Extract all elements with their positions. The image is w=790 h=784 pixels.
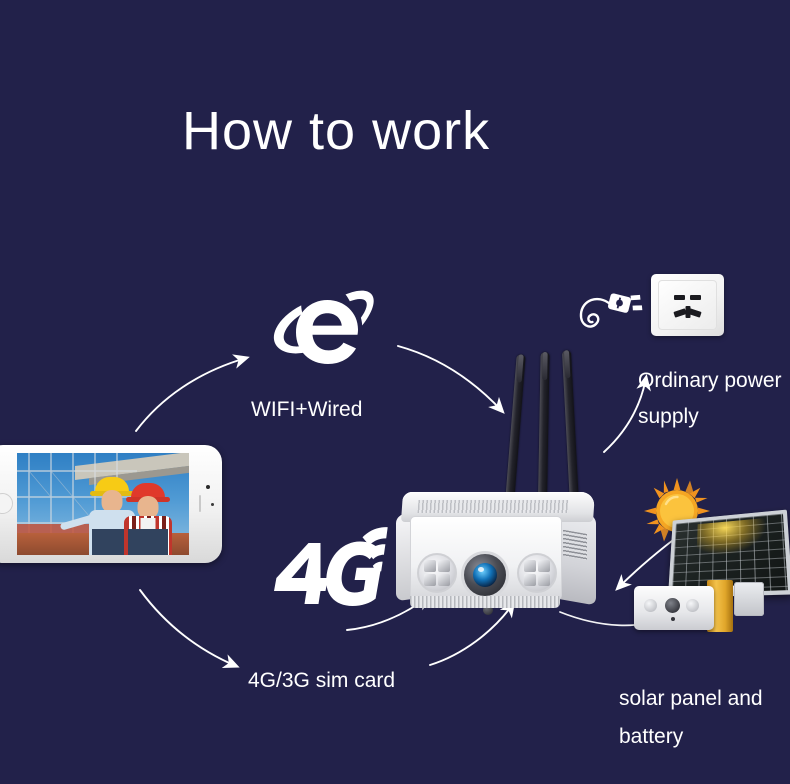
label-power-supply: Ordinary power supply [638, 363, 788, 435]
socket-slot [690, 295, 701, 300]
ip-security-camera[interactable] [388, 332, 608, 622]
camera-bottom-vents [410, 596, 560, 608]
camera-antenna [562, 350, 579, 504]
photo-worker-red-hat [120, 483, 175, 555]
construction-workers-photo [17, 453, 189, 555]
internet-explorer-icon [272, 282, 382, 374]
solar-panel-glare [697, 518, 766, 556]
socket-face [658, 280, 717, 330]
camera-front-face [410, 516, 562, 600]
camera-ir-led-array-left [417, 553, 457, 593]
phone-sensor-icon [211, 503, 214, 506]
mini-camera-sensor [671, 617, 675, 621]
phone-home-button[interactable] [0, 493, 13, 514]
label-sim-card: 4G/3G sim card [248, 669, 395, 693]
camera-ir-led-array-right [517, 553, 557, 593]
camera-side-grill [563, 530, 587, 560]
mounting-bracket [734, 582, 764, 616]
camera-body [396, 492, 594, 610]
label-wifi-wired: WIFI+Wired [251, 398, 362, 422]
4g-signal-icon [268, 525, 396, 617]
smartphone[interactable] [0, 445, 222, 563]
camera-top-vents [418, 500, 569, 513]
camera-lens-glass [473, 563, 497, 587]
mini-camera-ir-left [644, 599, 657, 612]
camera-antenna [505, 354, 526, 504]
socket-slot [688, 308, 701, 317]
arrow-phone-to-sim [140, 590, 236, 666]
camera-side-panel [556, 508, 596, 605]
arrow-phone-to-ie [136, 358, 246, 431]
socket-slot [674, 295, 685, 300]
camera-lens [461, 551, 509, 599]
camera-antenna [538, 352, 550, 504]
worker-pants [128, 529, 168, 555]
mini-camera-lens [665, 598, 680, 613]
phone-speaker-icon [199, 495, 202, 512]
mini-camera-ir-right [686, 599, 699, 612]
solar-kit-camera [634, 586, 714, 630]
phone-front-camera-icon [206, 485, 210, 489]
wall-socket-icon [651, 274, 724, 336]
label-solar-panel: solar panel and battery [619, 680, 789, 756]
power-plug-icon [576, 282, 656, 344]
solar-panel-assembly[interactable] [630, 476, 790, 656]
phone-screen[interactable] [17, 453, 189, 555]
diagram-canvas: How to work [0, 0, 790, 784]
